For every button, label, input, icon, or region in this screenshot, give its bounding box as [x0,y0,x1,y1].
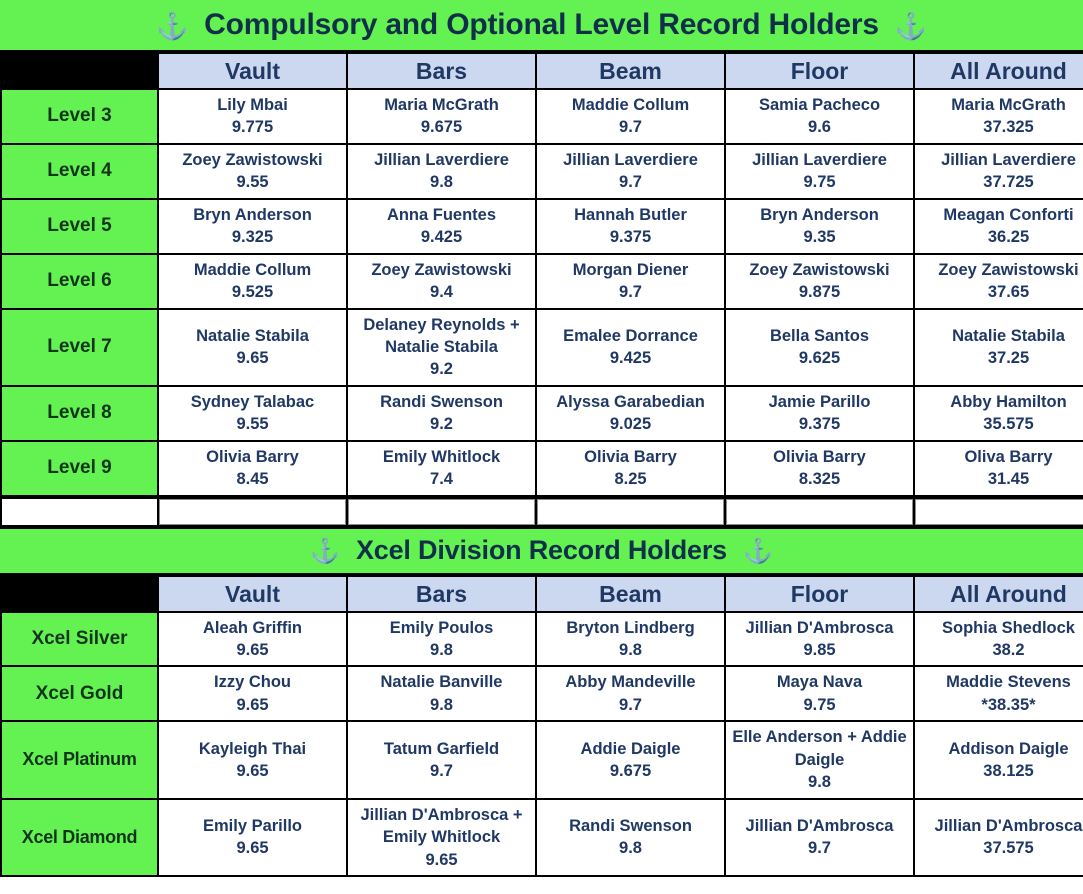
xcel-division-table: Vault Bars Beam Floor All Around Xcel Si… [0,575,1083,877]
table2-column-vault: Vault [159,577,346,611]
athlete-name: Oliva Barry [917,446,1083,468]
record-cell: Alyssa Garabedian9.025 [537,387,724,440]
record-score: 9.8 [350,639,533,661]
record-score: 9.875 [728,281,911,303]
record-score: 38.125 [917,760,1083,782]
compulsory-optional-table: Vault Bars Beam Floor All Around Level 3… [0,52,1083,497]
record-score: 8.325 [728,468,911,490]
record-score: 9.6 [728,116,911,138]
record-score: 9.625 [728,347,911,369]
athlete-name: Delaney Reynolds + Natalie Stabila [350,314,533,359]
athlete-name: Tatum Garfield [350,738,533,760]
athlete-name: Zoey Zawistowski [350,259,533,281]
record-score: 37.65 [917,281,1083,303]
record-cell: Jamie Parillo9.375 [726,387,913,440]
record-score: 9.2 [350,413,533,435]
table2-column-beam: Beam [537,577,724,611]
row-label-level-6: Level 6 [2,255,157,308]
record-score: 9.8 [350,171,533,193]
athlete-name: Alyssa Garabedian [539,391,722,413]
table1-column-all-around: All Around [915,54,1083,88]
table1-title: Compulsory and Optional Level Record Hol… [204,8,879,42]
record-cell: Aleah Griffin9.65 [159,613,346,666]
record-score: 9.65 [161,760,344,782]
athlete-name: Jillian Laverdiere [350,149,533,171]
separator-row [2,499,1083,525]
athlete-name: Abby Hamilton [917,391,1083,413]
athlete-name: Elle Anderson + Addie Daigle [728,726,911,771]
compulsory-optional-title-banner: ⚓ Compulsory and Optional Level Record H… [0,0,1083,52]
record-cell: Zoey Zawistowski9.875 [726,255,913,308]
record-score: 9.7 [728,837,911,859]
record-score: 9.8 [539,837,722,859]
record-cell: Jillian Laverdiere9.75 [726,145,913,198]
record-cell: Bryn Anderson9.325 [159,200,346,253]
record-score: 9.7 [539,116,722,138]
athlete-name: Jamie Parillo [728,391,911,413]
record-cell: Emily Poulos9.8 [348,613,535,666]
record-score: 37.325 [917,116,1083,138]
record-cell: Natalie Stabila9.65 [159,310,346,385]
record-cell: Delaney Reynolds + Natalie Stabila9.2 [348,310,535,385]
athlete-name: Jillian D'Ambrosca [728,815,911,837]
record-cell: Morgan Diener9.7 [537,255,724,308]
record-cell: Meagan Conforti36.25 [915,200,1083,253]
record-cell: Olivia Barry8.45 [159,442,346,495]
athlete-name: Randi Swenson [350,391,533,413]
athlete-name: Maria McGrath [917,94,1083,116]
record-cell: Jillian D'Ambrosca9.7 [726,800,913,875]
table-row: Level 8Sydney Talabac9.55Randi Swenson9.… [2,387,1083,440]
record-score: 9.675 [350,116,533,138]
record-score: 9.65 [161,837,344,859]
athlete-name: Emily Poulos [350,617,533,639]
table2-column-floor: Floor [726,577,913,611]
record-cell: Maria McGrath37.325 [915,90,1083,143]
athlete-name: Izzy Chou [161,671,344,693]
athlete-name: Maya Nava [728,671,911,693]
record-score: 9.55 [161,413,344,435]
athlete-name: Olivia Barry [161,446,344,468]
athlete-name: Morgan Diener [539,259,722,281]
record-score: 9.8 [539,639,722,661]
athlete-name: Bella Santos [728,325,911,347]
table-row: Level 4Zoey Zawistowski9.55Jillian Laver… [2,145,1083,198]
record-cell: Sophia Shedlock38.2 [915,613,1083,666]
table1-column-floor: Floor [726,54,913,88]
record-cell: Bryton Lindberg9.8 [537,613,724,666]
athlete-name: Emily Whitlock [350,446,533,468]
record-score: 37.725 [917,171,1083,193]
athlete-name: Jillian D'Ambrosca [917,815,1083,837]
record-score: 9.65 [350,849,533,871]
athlete-name: Maria McGrath [350,94,533,116]
table-row: Level 6Maddie Collum9.525Zoey Zawistowsk… [2,255,1083,308]
record-score: 8.25 [539,468,722,490]
record-score: 9.7 [539,171,722,193]
record-cell: Maddie Collum9.7 [537,90,724,143]
athlete-name: Kayleigh Thai [161,738,344,760]
record-score: 9.7 [539,694,722,716]
record-cell: Emily Whitlock7.4 [348,442,535,495]
athlete-name: Randi Swenson [539,815,722,837]
athlete-name: Lily Mbai [161,94,344,116]
table2-column-bars: Bars [348,577,535,611]
record-score: 9.375 [728,413,911,435]
separator-cell [348,499,535,525]
record-score: 9.325 [161,226,344,248]
table1-column-beam: Beam [537,54,724,88]
record-cell: Maddie Stevens*38.35* [915,667,1083,720]
record-score: 7.4 [350,468,533,490]
table-row: Level 7Natalie Stabila9.65Delaney Reynol… [2,310,1083,385]
row-label-xcel-platinum: Xcel Platinum [2,722,157,797]
athlete-name: Jillian Laverdiere [917,149,1083,171]
athlete-name: Maddie Collum [161,259,344,281]
record-cell: Natalie Stabila37.25 [915,310,1083,385]
xcel-division-title-banner: ⚓ Xcel Division Record Holders ⚓ [0,527,1083,575]
record-score: 9.4 [350,281,533,303]
athlete-name: Bryn Anderson [161,204,344,226]
record-cell: Maya Nava9.75 [726,667,913,720]
record-cell: Oliva Barry31.45 [915,442,1083,495]
row-label-level-9: Level 9 [2,442,157,495]
record-cell: Jillian D'Ambrosca9.85 [726,613,913,666]
table-row: Level 9Olivia Barry8.45Emily Whitlock7.4… [2,442,1083,495]
record-cell: Zoey Zawistowski9.4 [348,255,535,308]
separator-cell [726,499,913,525]
record-cell: Randi Swenson9.8 [537,800,724,875]
athlete-name: Meagan Conforti [917,204,1083,226]
record-cell: Elle Anderson + Addie Daigle9.8 [726,722,913,797]
record-score: 9.2 [350,358,533,380]
athlete-name: Addie Daigle [539,738,722,760]
record-score: 35.575 [917,413,1083,435]
record-cell: Zoey Zawistowski37.65 [915,255,1083,308]
record-cell: Olivia Barry8.25 [537,442,724,495]
table-separator [0,497,1083,527]
athlete-name: Abby Mandeville [539,671,722,693]
athlete-name: Hannah Butler [539,204,722,226]
record-cell: Sydney Talabac9.55 [159,387,346,440]
record-cell: Jillian D'Ambrosca37.575 [915,800,1083,875]
record-cell: Emalee Dorrance9.425 [537,310,724,385]
athlete-name: Sophia Shedlock [917,617,1083,639]
athlete-name: Anna Fuentes [350,204,533,226]
separator-cell [537,499,724,525]
record-cell: Jillian Laverdiere9.7 [537,145,724,198]
record-cell: Abby Mandeville9.7 [537,667,724,720]
record-cell: Samia Pacheco9.6 [726,90,913,143]
record-score: 9.35 [728,226,911,248]
athlete-name: Aleah Griffin [161,617,344,639]
record-cell: Anna Fuentes9.425 [348,200,535,253]
table2-corner-cell [2,577,157,611]
record-holders-page: ⚓ Compulsory and Optional Level Record H… [0,0,1083,894]
athlete-name: Maddie Stevens [917,671,1083,693]
record-cell: Hannah Butler9.375 [537,200,724,253]
record-score: 8.45 [161,468,344,490]
anchor-icon: ⚓ [156,13,188,39]
record-score: 9.65 [161,347,344,369]
athlete-name: Addison Daigle [917,738,1083,760]
record-cell: Lily Mbai9.775 [159,90,346,143]
table1-corner-cell [2,54,157,88]
athlete-name: Zoey Zawistowski [161,149,344,171]
athlete-name: Maddie Collum [539,94,722,116]
record-cell: Bella Santos9.625 [726,310,913,385]
table2-title: Xcel Division Record Holders [356,535,727,566]
table-row: Level 5Bryn Anderson9.325Anna Fuentes9.4… [2,200,1083,253]
separator-blank-cell [2,499,157,525]
row-label-level-5: Level 5 [2,200,157,253]
athlete-name: Olivia Barry [728,446,911,468]
record-score: 31.45 [917,468,1083,490]
athlete-name: Bryn Anderson [728,204,911,226]
record-score: 9.7 [350,760,533,782]
athlete-name: Bryton Lindberg [539,617,722,639]
record-score: 9.65 [161,694,344,716]
record-score: 9.675 [539,760,722,782]
anchor-icon: ⚓ [310,540,340,564]
record-score: 9.025 [539,413,722,435]
record-score: 9.375 [539,226,722,248]
table-row: Xcel DiamondEmily Parillo9.65Jillian D'A… [2,800,1083,875]
athlete-name: Emily Parillo [161,815,344,837]
row-label-level-4: Level 4 [2,145,157,198]
record-score: 9.75 [728,694,911,716]
table-row: Xcel GoldIzzy Chou9.65Natalie Banville9.… [2,667,1083,720]
athlete-name: Jillian D'Ambrosca [728,617,911,639]
record-score: 36.25 [917,226,1083,248]
record-score: 9.425 [539,347,722,369]
table1-column-vault: Vault [159,54,346,88]
record-cell: Abby Hamilton35.575 [915,387,1083,440]
record-score: *38.35* [917,694,1083,716]
athlete-name: Samia Pacheco [728,94,911,116]
athlete-name: Zoey Zawistowski [728,259,911,281]
separator-cell [159,499,346,525]
athlete-name: Natalie Stabila [161,325,344,347]
row-label-xcel-silver: Xcel Silver [2,613,157,666]
record-cell: Addison Daigle38.125 [915,722,1083,797]
record-cell: Jillian D'Ambrosca + Emily Whitlock9.65 [348,800,535,875]
record-score: 9.55 [161,171,344,193]
row-label-level-8: Level 8 [2,387,157,440]
record-score: 37.575 [917,837,1083,859]
record-cell: Kayleigh Thai9.65 [159,722,346,797]
record-cell: Jillian Laverdiere37.725 [915,145,1083,198]
record-score: 9.75 [728,171,911,193]
row-label-xcel-diamond: Xcel Diamond [2,800,157,875]
anchor-icon: ⚓ [895,13,927,39]
table2-column-all-around: All Around [915,577,1083,611]
athlete-name: Emalee Dorrance [539,325,722,347]
record-cell: Randi Swenson9.2 [348,387,535,440]
record-cell: Addie Daigle9.675 [537,722,724,797]
athlete-name: Zoey Zawistowski [917,259,1083,281]
athlete-name: Jillian Laverdiere [539,149,722,171]
record-cell: Zoey Zawistowski9.55 [159,145,346,198]
record-cell: Maria McGrath9.675 [348,90,535,143]
record-score: 9.8 [350,694,533,716]
row-label-xcel-gold: Xcel Gold [2,667,157,720]
record-score: 9.65 [161,639,344,661]
table1-column-bars: Bars [348,54,535,88]
athlete-name: Olivia Barry [539,446,722,468]
record-score: 9.7 [539,281,722,303]
record-cell: Jillian Laverdiere9.8 [348,145,535,198]
athlete-name: Jillian D'Ambrosca + Emily Whitlock [350,804,533,849]
record-cell: Olivia Barry8.325 [726,442,913,495]
separator-cell [915,499,1083,525]
record-score: 9.85 [728,639,911,661]
athlete-name: Jillian Laverdiere [728,149,911,171]
record-cell: Bryn Anderson9.35 [726,200,913,253]
record-score: 9.525 [161,281,344,303]
table2-header-row: Vault Bars Beam Floor All Around [2,577,1083,611]
athlete-name: Sydney Talabac [161,391,344,413]
record-cell: Tatum Garfield9.7 [348,722,535,797]
record-score: 37.25 [917,347,1083,369]
row-label-level-3: Level 3 [2,90,157,143]
record-cell: Maddie Collum9.525 [159,255,346,308]
table-row: Level 3Lily Mbai9.775Maria McGrath9.675M… [2,90,1083,143]
record-score: 9.775 [161,116,344,138]
record-score: 38.2 [917,639,1083,661]
athlete-name: Natalie Banville [350,671,533,693]
anchor-icon: ⚓ [743,540,773,564]
table-row: Xcel SilverAleah Griffin9.65Emily Poulos… [2,613,1083,666]
row-label-level-7: Level 7 [2,310,157,385]
record-cell: Natalie Banville9.8 [348,667,535,720]
record-cell: Emily Parillo9.65 [159,800,346,875]
record-score: 9.8 [728,771,911,793]
athlete-name: Natalie Stabila [917,325,1083,347]
record-cell: Izzy Chou9.65 [159,667,346,720]
record-score: 9.425 [350,226,533,248]
table1-header-row: Vault Bars Beam Floor All Around [2,54,1083,88]
table-row: Xcel PlatinumKayleigh Thai9.65Tatum Garf… [2,722,1083,797]
